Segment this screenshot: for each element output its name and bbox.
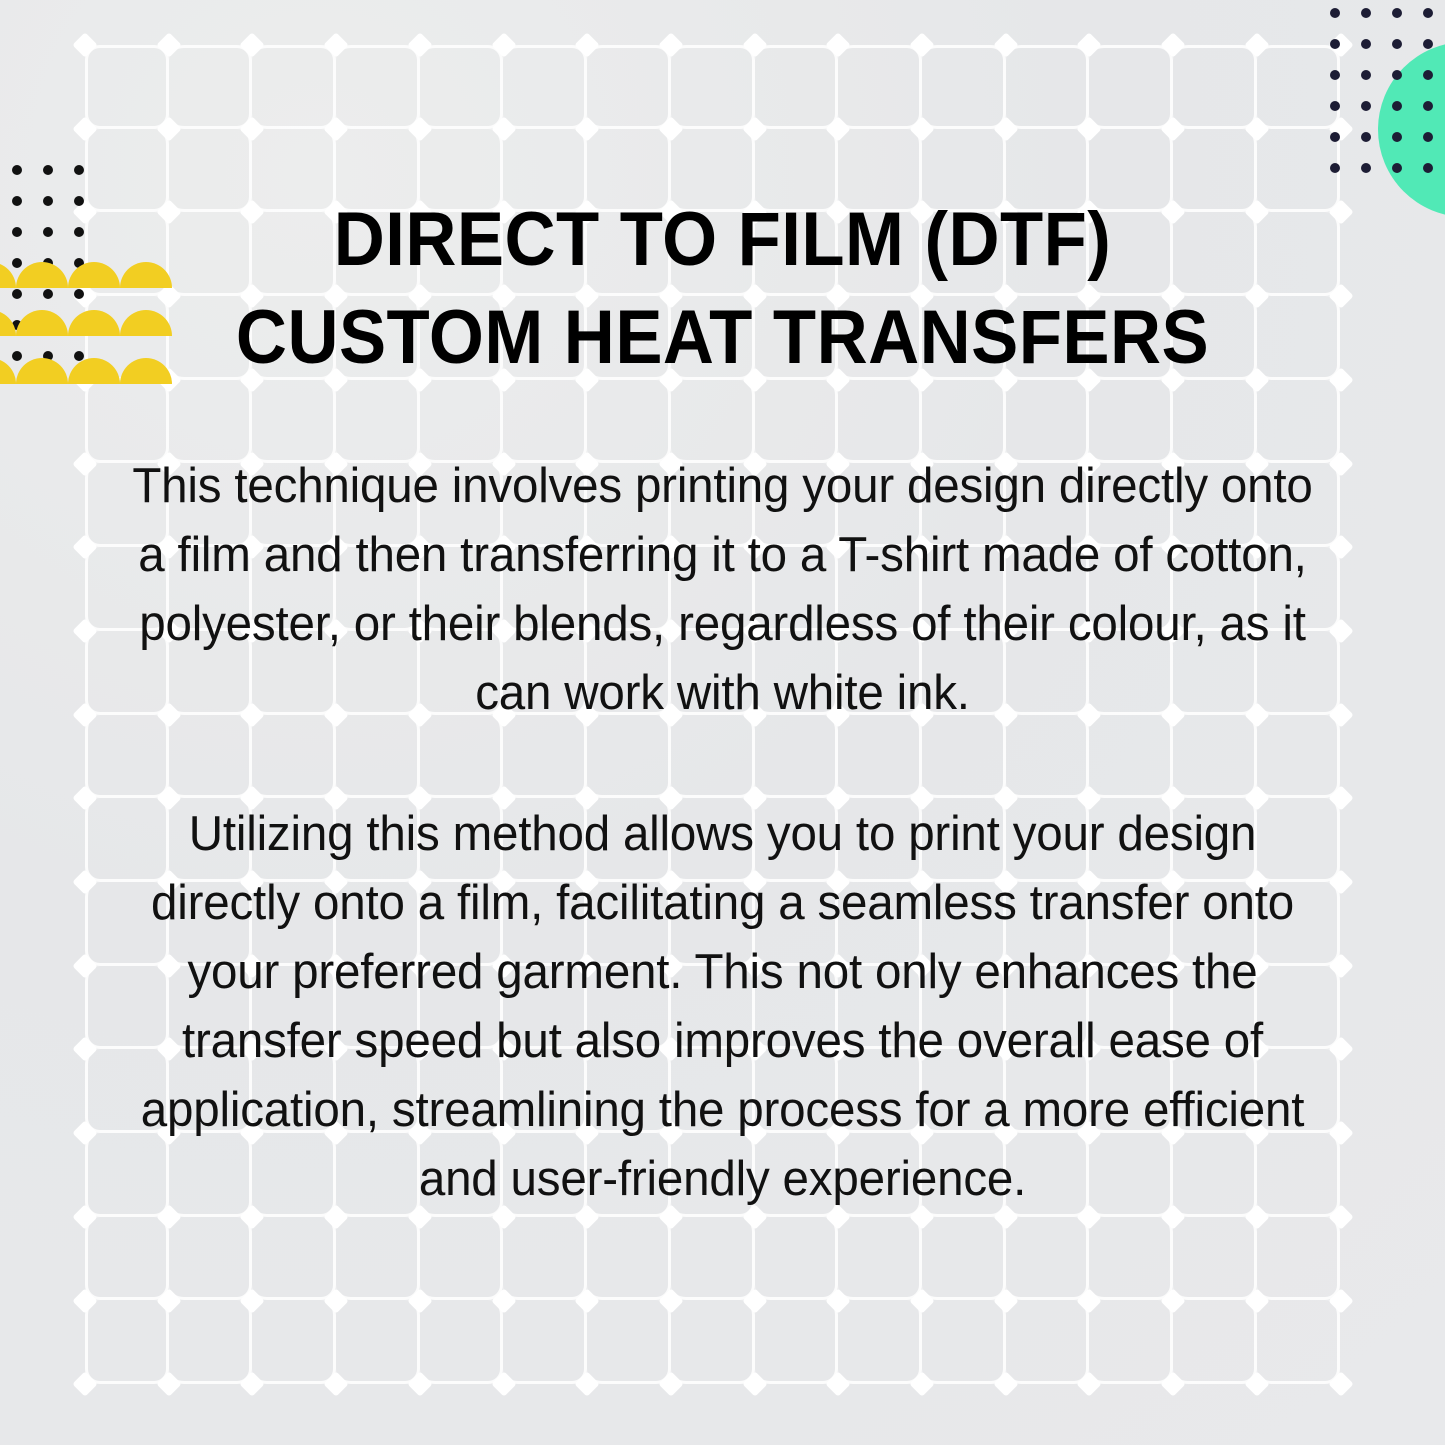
grid-node — [993, 1371, 1018, 1396]
grid-cell — [1257, 1300, 1341, 1384]
decorative-dot — [1392, 39, 1402, 49]
grid-node — [72, 953, 97, 978]
grid-node — [156, 116, 181, 141]
grid-cell — [922, 45, 1006, 129]
yellow-half-circle — [0, 310, 16, 336]
grid-node — [1160, 1288, 1185, 1313]
grid-node — [1328, 451, 1353, 476]
body-copy: This technique involves printing your de… — [114, 452, 1331, 1214]
grid-cell — [420, 45, 504, 129]
decorative-dot — [1392, 8, 1402, 18]
grid-node — [909, 116, 934, 141]
grid-node — [1328, 618, 1353, 643]
page-title: DIRECT TO FILM (DTF) CUSTOM HEAT TRANSFE… — [51, 191, 1395, 387]
grid-cell — [671, 1300, 755, 1384]
decorative-dot — [12, 258, 22, 268]
grid-node — [323, 1288, 348, 1313]
grid-cell — [755, 45, 839, 129]
grid-node — [72, 1120, 97, 1145]
grid-cell — [922, 1300, 1006, 1384]
grid-cell — [587, 1300, 671, 1384]
decorative-dot — [12, 196, 22, 206]
grid-cell — [671, 380, 755, 464]
grid-node — [491, 1288, 516, 1313]
grid-node — [909, 1371, 934, 1396]
grid-node — [407, 1288, 432, 1313]
grid-node — [72, 869, 97, 894]
grid-cell — [1089, 45, 1173, 129]
decorative-dot — [1361, 163, 1371, 173]
grid-cell — [336, 45, 420, 129]
grid-node — [658, 116, 683, 141]
grid-node — [742, 1288, 767, 1313]
grid-cell — [755, 1300, 839, 1384]
yellow-half-circle — [0, 358, 16, 384]
grid-node — [1328, 116, 1353, 141]
grid-node — [658, 1371, 683, 1396]
decorative-dot — [1330, 8, 1340, 18]
grid-cell — [169, 45, 253, 129]
paragraph-1: This technique involves printing your de… — [114, 452, 1331, 728]
yellow-half-circle — [0, 262, 16, 288]
grid-node — [1328, 534, 1353, 559]
decorative-dot — [12, 227, 22, 237]
grid-cell — [1089, 1300, 1173, 1384]
grid-cell — [503, 45, 587, 129]
grid-cell — [252, 380, 336, 464]
grid-cell — [252, 45, 336, 129]
grid-node — [1328, 1120, 1353, 1145]
decorative-dot — [12, 289, 22, 299]
grid-cell — [336, 1300, 420, 1384]
grid-cell — [1173, 1217, 1257, 1301]
grid-cell — [838, 45, 922, 129]
decorative-dot — [74, 165, 84, 175]
grid-node — [72, 702, 97, 727]
grid-node — [909, 1288, 934, 1313]
grid-node — [742, 1371, 767, 1396]
grid-node — [1328, 1037, 1353, 1062]
grid-node — [826, 1288, 851, 1313]
grid-node — [323, 1371, 348, 1396]
grid-node — [993, 1288, 1018, 1313]
grid-node — [72, 1288, 97, 1313]
grid-cell — [1089, 380, 1173, 464]
grid-cell — [838, 380, 922, 464]
grid-node — [826, 116, 851, 141]
grid-node — [1328, 32, 1353, 57]
grid-node — [993, 116, 1018, 141]
grid-cell — [1257, 45, 1341, 129]
grid-node — [574, 1288, 599, 1313]
grid-cell — [1006, 380, 1090, 464]
grid-node — [1244, 116, 1269, 141]
grid-node — [1328, 786, 1353, 811]
decorative-dot — [1361, 39, 1371, 49]
decorative-dot — [1330, 132, 1340, 142]
grid-cell — [755, 380, 839, 464]
grid-cell — [252, 1217, 336, 1301]
decorative-dot — [43, 165, 53, 175]
grid-cell — [922, 380, 1006, 464]
grid-node — [826, 1371, 851, 1396]
grid-node — [407, 1371, 432, 1396]
grid-node — [574, 32, 599, 57]
grid-cell — [587, 1217, 671, 1301]
grid-node — [1244, 1288, 1269, 1313]
grid-cell — [1089, 1217, 1173, 1301]
grid-node — [1077, 1371, 1102, 1396]
decorative-dot — [1330, 163, 1340, 173]
grid-node — [1244, 32, 1269, 57]
grid-cell — [169, 1217, 253, 1301]
decorative-dot — [1361, 132, 1371, 142]
grid-cell — [1173, 380, 1257, 464]
grid-node — [1328, 953, 1353, 978]
grid-cell — [1257, 1217, 1341, 1301]
grid-node — [491, 32, 516, 57]
grid-node — [1160, 1371, 1185, 1396]
grid-node — [574, 1371, 599, 1396]
poster-canvas: DIRECT TO FILM (DTF) CUSTOM HEAT TRANSFE… — [0, 0, 1445, 1445]
grid-node — [1160, 116, 1185, 141]
grid-cell — [1006, 45, 1090, 129]
grid-node — [1328, 1288, 1353, 1313]
decorative-dot — [12, 165, 22, 175]
grid-node — [407, 32, 432, 57]
decorative-dot — [1361, 101, 1371, 111]
decorative-dot — [12, 351, 22, 361]
grid-node — [1328, 1371, 1353, 1396]
grid-cell — [85, 1217, 169, 1301]
grid-cell — [503, 1217, 587, 1301]
grid-cell — [838, 1300, 922, 1384]
grid-node — [993, 32, 1018, 57]
grid-node — [323, 116, 348, 141]
grid-node — [826, 32, 851, 57]
grid-node — [574, 116, 599, 141]
paragraph-2: Utilizing this method allows you to prin… — [114, 800, 1331, 1214]
grid-cell — [85, 45, 169, 129]
grid-node — [240, 32, 265, 57]
grid-cell — [252, 1300, 336, 1384]
grid-node — [742, 116, 767, 141]
grid-node — [72, 1371, 97, 1396]
grid-cell — [85, 1300, 169, 1384]
grid-node — [909, 32, 934, 57]
grid-cell — [1006, 1300, 1090, 1384]
grid-node — [240, 1288, 265, 1313]
grid-node — [156, 32, 181, 57]
grid-cell — [85, 380, 169, 464]
grid-node — [1328, 702, 1353, 727]
decorative-dot — [1423, 8, 1433, 18]
decorative-dot — [1330, 101, 1340, 111]
grid-node — [491, 116, 516, 141]
grid-node — [1160, 32, 1185, 57]
grid-node — [72, 618, 97, 643]
grid-node — [240, 116, 265, 141]
grid-cell — [671, 1217, 755, 1301]
grid-cell — [1173, 45, 1257, 129]
grid-cell — [169, 380, 253, 464]
grid-node — [1077, 116, 1102, 141]
decorative-dot — [1330, 39, 1340, 49]
grid-node — [156, 1288, 181, 1313]
grid-node — [1077, 32, 1102, 57]
grid-node — [1328, 1204, 1353, 1229]
grid-cell — [420, 1300, 504, 1384]
grid-node — [72, 534, 97, 559]
grid-cell — [587, 380, 671, 464]
grid-node — [407, 116, 432, 141]
grid-node — [323, 32, 348, 57]
grid-node — [72, 1037, 97, 1062]
grid-node — [240, 1371, 265, 1396]
grid-cell — [169, 1300, 253, 1384]
grid-cell — [1006, 1217, 1090, 1301]
grid-cell — [503, 1300, 587, 1384]
grid-node — [72, 451, 97, 476]
decorative-dot — [1330, 70, 1340, 80]
grid-cell — [1173, 1300, 1257, 1384]
grid-node — [72, 32, 97, 57]
grid-cell — [838, 1217, 922, 1301]
grid-node — [1328, 869, 1353, 894]
grid-node — [72, 786, 97, 811]
grid-node — [658, 32, 683, 57]
grid-node — [491, 1371, 516, 1396]
grid-node — [72, 1204, 97, 1229]
grid-node — [1077, 1288, 1102, 1313]
grid-node — [742, 32, 767, 57]
grid-cell — [922, 1217, 1006, 1301]
decorative-dot — [1361, 8, 1371, 18]
grid-cell — [336, 380, 420, 464]
grid-cell — [1257, 380, 1341, 464]
grid-node — [72, 116, 97, 141]
grid-node — [1244, 1371, 1269, 1396]
grid-cell — [671, 45, 755, 129]
decorative-dot — [1361, 70, 1371, 80]
grid-cell — [503, 380, 587, 464]
grid-cell — [420, 380, 504, 464]
grid-node — [156, 1371, 181, 1396]
grid-cell — [755, 1217, 839, 1301]
grid-cell — [420, 1217, 504, 1301]
decorative-dot — [12, 320, 22, 330]
grid-cell — [587, 45, 671, 129]
grid-cell — [336, 1217, 420, 1301]
grid-node — [658, 1288, 683, 1313]
